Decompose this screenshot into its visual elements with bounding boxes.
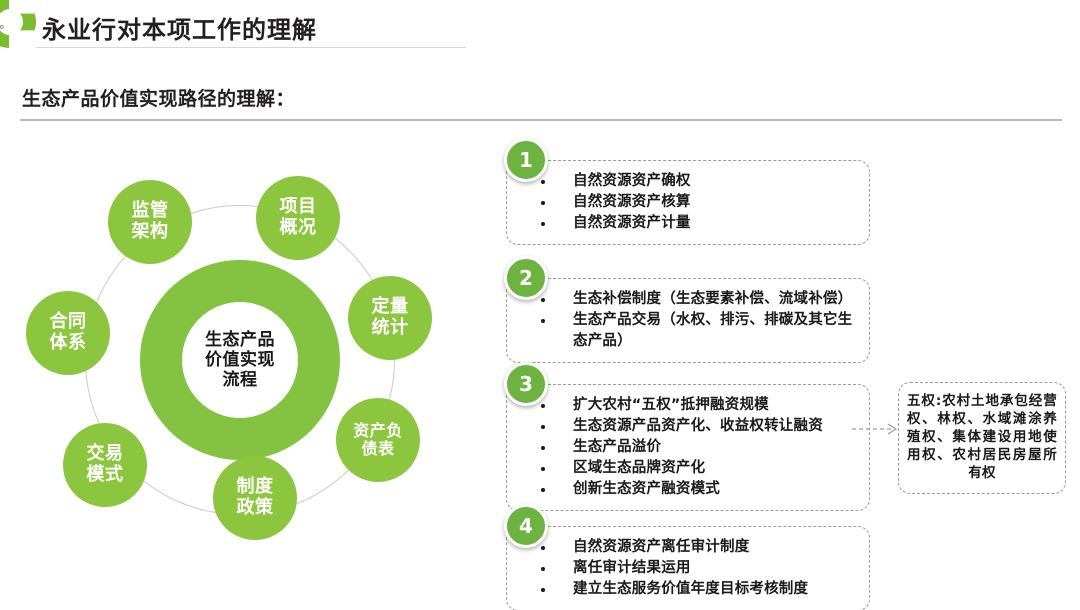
hub-node-label-line: 统计 [372, 318, 409, 339]
hub-node-policy-system[interactable]: 制度政策 [213, 456, 297, 540]
page-title: 永业行对本项工作的理解 [42, 10, 317, 45]
hub-node-label-line: 资产负 [353, 422, 403, 440]
hub-node-label-line: 债表 [353, 440, 403, 458]
hub-node-label: 监管架构 [132, 201, 169, 242]
hub-node-project-overview[interactable]: 项目概况 [256, 176, 340, 260]
step-number-badge[interactable]: 4 [504, 504, 548, 548]
logo-ring-shape [0, 0, 36, 48]
step-bullet-item: 生态产品交易（水权、排污、排碳及其它生态产品） [527, 310, 859, 352]
hub-center-label: 生态产品价值实现流程 [205, 330, 275, 390]
path-steps-list: 自然资源资产确权自然资源资产核算自然资源资产计量1生态补偿制度（生态要素补偿、流… [498, 138, 898, 608]
hub-node-label-line: 体系 [50, 333, 87, 354]
step-bullet-item: 离任审计结果运用 [527, 558, 859, 579]
step-box: 自然资源资产确权自然资源资产核算自然资源资产计量 [506, 160, 870, 245]
hub-node-balance-sheet[interactable]: 资产负债表 [336, 398, 420, 482]
hub-node-label-line: 架构 [132, 222, 169, 243]
step-bullet-item: 生态资源产品资产化、收益权转让融资 [527, 416, 859, 437]
step-number-badge[interactable]: 3 [504, 362, 548, 406]
wuquan-callout-text: 五权:农村土地承包经营权、林权、水域滩涂养殖权、集体建设用地使用权、农村居民房屋… [907, 393, 1057, 482]
hub-node-label-line: 概况 [280, 218, 317, 239]
hub-node-label-line: 定量 [372, 297, 409, 318]
hub-center-line: 生态产品 [205, 330, 275, 350]
step-bullet-item: 生态产品溢价 [527, 437, 859, 458]
hub-node-label-line: 政策 [237, 498, 274, 519]
step-number-badge[interactable]: 1 [504, 138, 548, 182]
step-bullet-item: 自然资源资产离任审计制度 [527, 537, 859, 558]
company-logo-icon: YY-YO [0, 0, 36, 54]
hub-node-quantitative-stats[interactable]: 定量统计 [348, 276, 432, 360]
hub-node-label-line: 项目 [280, 197, 317, 218]
step-bullet-list: 扩大农村“五权”抵押融资规模生态资源产品资产化、收益权转让融资生态产品溢价区域生… [527, 395, 859, 500]
step-box: 自然资源资产离任审计制度离任审计结果运用建立生态服务价值年度目标考核制度 [506, 526, 870, 610]
step-box: 扩大农村“五权”抵押融资规模生态资源产品资产化、收益权转让融资生态产品溢价区域生… [506, 384, 870, 511]
step-bullet-item: 建立生态服务价值年度目标考核制度 [527, 579, 859, 600]
step-bullet-item: 自然资源资产确权 [527, 171, 859, 192]
hub-node-label: 项目概况 [280, 197, 317, 238]
step-bullet-list: 自然资源资产确权自然资源资产核算自然资源资产计量 [527, 171, 859, 234]
subtitle-divider [20, 119, 1062, 121]
hub-center-line: 流程 [205, 370, 275, 390]
step-bullet-item: 自然资源资产核算 [527, 192, 859, 213]
step-bullet-item: 生态补偿制度（生态要素补偿、流域补偿） [527, 289, 859, 310]
hub-node-label: 合同体系 [50, 312, 87, 353]
step-bullet-item: 区域生态品牌资产化 [527, 458, 859, 479]
hub-node-label-line: 交易 [87, 444, 124, 465]
wuquan-callout-box: 五权:农村土地承包经营权、林权、水域滩涂养殖权、集体建设用地使用权、农村居民房屋… [898, 382, 1066, 494]
step-box: 生态补偿制度（生态要素补偿、流域补偿）生态产品交易（水权、排污、排碳及其它生态产… [506, 278, 870, 363]
step-bullet-item: 扩大农村“五权”抵押融资规模 [527, 395, 859, 416]
hub-node-trading-model[interactable]: 交易模式 [63, 423, 147, 507]
hub-node-label-line: 合同 [50, 312, 87, 333]
slide-canvas: YY-YO 永业行对本项工作的理解 生态产品价值实现路径的理解： 生态产品价值实… [0, 0, 1080, 610]
hub-node-supervision[interactable]: 监管架构 [108, 180, 192, 264]
hub-node-contract-system[interactable]: 合同体系 [26, 291, 110, 375]
hub-center-line: 价值实现 [205, 350, 275, 370]
step-number-badge[interactable]: 2 [504, 256, 548, 300]
section-subtitle: 生态产品价值实现路径的理解： [22, 84, 295, 111]
hub-node-label-line: 模式 [87, 465, 124, 486]
hub-node-label-line: 制度 [237, 477, 274, 498]
step-bullet-item: 创新生态资产融资模式 [527, 479, 859, 500]
hub-center: 生态产品价值实现流程 [182, 302, 298, 418]
arrow-right-dashed-icon [852, 418, 904, 440]
step-bullet-list: 生态补偿制度（生态要素补偿、流域补偿）生态产品交易（水权、排污、排碳及其它生态产… [527, 289, 859, 352]
hub-node-label: 资产负债表 [353, 422, 403, 459]
hub-node-label-line: 监管 [132, 201, 169, 222]
hub-node-label: 制度政策 [237, 477, 274, 518]
ecological-value-hub-diagram: 生态产品价值实现流程 项目概况定量统计资产负债表制度政策交易模式合同体系监管架构 [0, 130, 480, 610]
hub-node-label: 定量统计 [372, 297, 409, 338]
title-divider [36, 47, 466, 48]
step-bullet-list: 自然资源资产离任审计制度离任审计结果运用建立生态服务价值年度目标考核制度 [527, 537, 859, 600]
logo-subtext: YY-YO [0, 25, 5, 31]
hub-node-label: 交易模式 [87, 444, 124, 485]
step-bullet-item: 自然资源资产计量 [527, 213, 859, 234]
